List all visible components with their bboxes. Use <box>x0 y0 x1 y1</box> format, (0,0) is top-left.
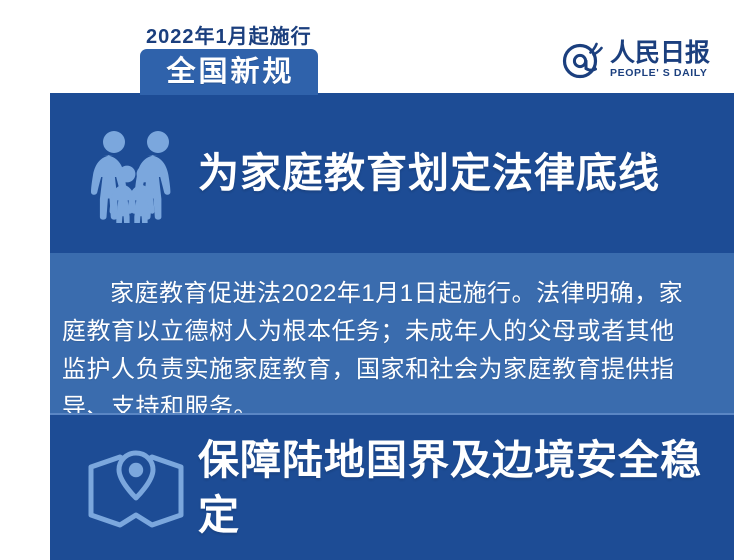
logo-chinese-name: 人民日报 <box>610 40 710 66</box>
map-pin-icon <box>84 443 188 533</box>
section-body-family: 家庭教育促进法2022年1月1日起施行。法律明确，家庭教育以立德树人为根本任务；… <box>50 253 734 413</box>
eyebrow-text: 2022年1月起施行 <box>146 20 312 49</box>
section-header-border: 保障陆地国界及边境安全稳定 <box>50 413 734 560</box>
at-sign-icon <box>560 38 606 84</box>
section-title-border: 保障陆地国界及边境安全稳定 <box>188 433 734 541</box>
category-badge-label: 全国新规 <box>163 58 294 87</box>
poster-header: 2022年1月起施行 全国新规 人民日报 PEOPLE' S DAILY <box>0 0 734 93</box>
logo-english-name: PEOPLE' S DAILY <box>610 67 710 80</box>
section-body-text-family: 家庭教育促进法2022年1月1日起施行。法律明确，家庭教育以立德树人为根本任务；… <box>62 275 698 427</box>
section-title-family: 为家庭教育划定法律底线 <box>188 146 660 200</box>
section-header-family: 为家庭教育划定法律底线 <box>50 91 734 253</box>
category-badge: 全国新规 <box>140 49 318 95</box>
logo-text-block: 人民日报 PEOPLE' S DAILY <box>610 38 710 80</box>
peoples-daily-logo: 人民日报 PEOPLE' S DAILY <box>560 38 710 88</box>
content-panel: 为家庭教育划定法律底线 家庭教育促进法2022年1月1日起施行。法律明确，家庭教… <box>50 91 734 560</box>
family-icon <box>84 123 188 223</box>
infographic-poster: 2022年1月起施行 全国新规 人民日报 PEOPLE' S DAILY <box>0 0 734 560</box>
